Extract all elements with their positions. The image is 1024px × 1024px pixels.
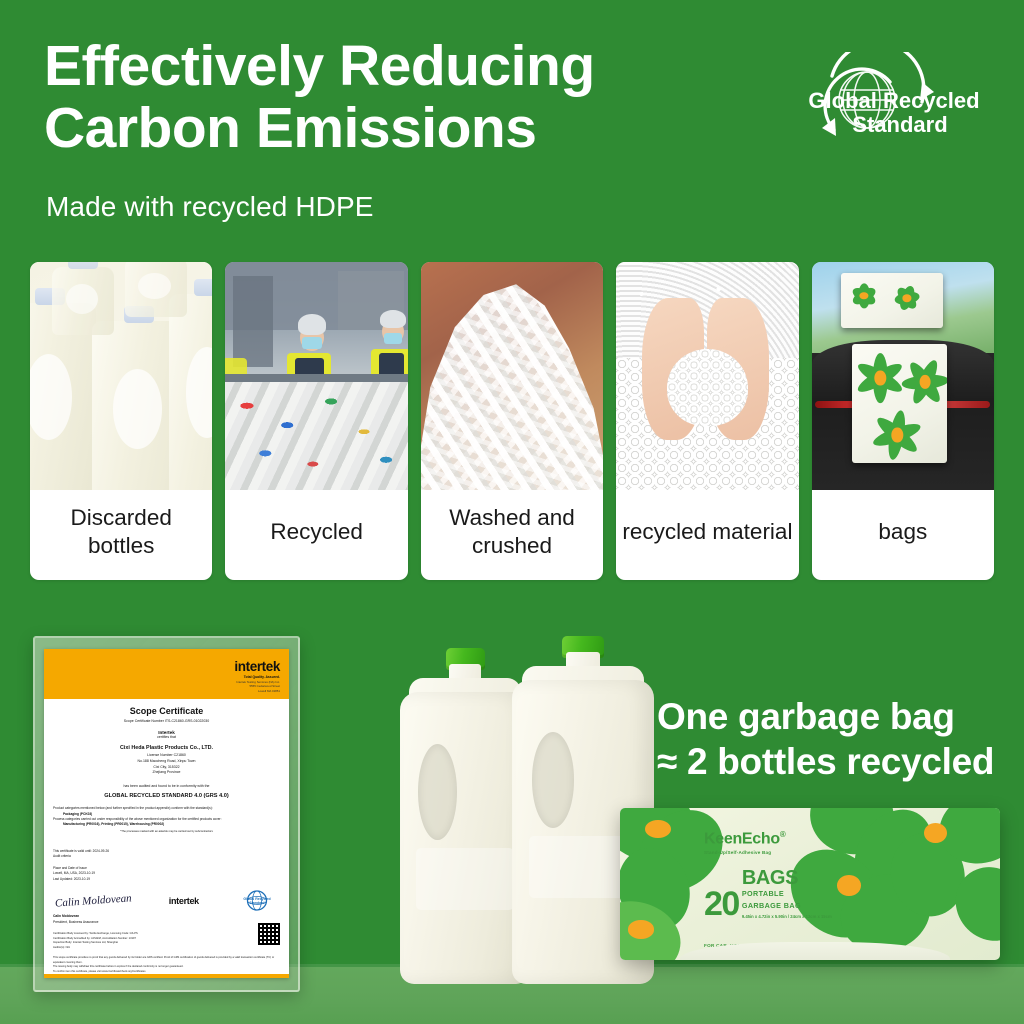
certificate-number: Scope Certificate Number ITS-C21860-GRS-… xyxy=(53,719,280,723)
hands-holding-hdpe-pellets-photo xyxy=(616,262,798,490)
process-card-caption: Washed and crushed xyxy=(421,490,603,580)
certificate-intertek-logo-footer: intertek xyxy=(169,896,199,906)
headline-line-2: Carbon Emissions xyxy=(44,98,724,160)
grs-badge-line2: Standard xyxy=(852,112,947,137)
certificate-address-3: Zhejiang Province xyxy=(53,770,280,776)
process-card-discarded-bottles[interactable]: Discarded bottles xyxy=(30,262,212,580)
hero-line-2: ≈ 2 bottles recycled xyxy=(657,739,994,784)
certificate-qr-code xyxy=(258,923,280,945)
washed-crushed-plastic-flakes-photo xyxy=(421,262,603,490)
certificate-last-updated: Last Updated: 2023-10-19 xyxy=(53,877,280,882)
certificate-process-note: *The processes marked with an asterisk m… xyxy=(53,830,280,833)
product-dimensions: 9.45in x 4.72in x 5.90in / 24cm x 12cm x… xyxy=(742,914,832,919)
process-card-recycled[interactable]: Recycled xyxy=(225,262,407,580)
certificate-grs-logo: Global Recycled Standard xyxy=(236,889,278,912)
certificate-company: Cixi Heda Plastic Products Co., LTD. xyxy=(53,745,280,751)
certificate-title: Scope Certificate xyxy=(53,706,280,716)
recycling-facility-workers-photo xyxy=(225,262,407,490)
certificate-process-value: Manufacturing (PR0016), Printing (PR0015… xyxy=(63,822,164,826)
product-brand-subtitle: Stand-Up/Self-Adhesive Bag xyxy=(704,850,832,855)
certificate-signer-title: President, Business Assurance xyxy=(53,920,280,924)
registered-mark: ® xyxy=(780,830,786,839)
page-headline: Effectively Reducing Carbon Emissions xyxy=(44,36,724,159)
headline-line-1: Effectively Reducing xyxy=(44,36,724,98)
certificate-paper: intertek Total Quality. Assured. Interte… xyxy=(44,649,289,978)
plastic-bottles-on-conveyor xyxy=(225,382,407,490)
process-card-washed-crushed[interactable]: Washed and crushed xyxy=(421,262,603,580)
process-cards-row: Discarded bottles Recycled xyxy=(30,262,994,580)
product-bags-word: BAGS xyxy=(742,869,832,887)
process-card-caption: bags xyxy=(812,490,994,580)
process-card-caption: Discarded bottles xyxy=(30,490,212,580)
product-box-keenecho[interactable]: KeenEcho® Stand-Up/Self-Adhesive Bag 20 … xyxy=(620,808,1000,960)
certificate-audited-text: has been audited and found to be in conf… xyxy=(53,784,280,788)
certificate-standard: GLOBAL RECYCLED STANDARD 4.0 (GRS 4.0) xyxy=(53,793,280,799)
certificate-signer-name: Calin Moldovean xyxy=(53,914,280,918)
hero-line-1: One garbage bag xyxy=(657,694,994,739)
intertek-tagline: Total Quality. Assured. xyxy=(234,675,280,679)
scope-certificate-frame[interactable]: intertek Total Quality. Assured. Interte… xyxy=(33,636,300,992)
globe-recycle-arrows-icon: Global Recycled Standard xyxy=(772,52,988,156)
certificate-product-value: Packaging (PCK03) xyxy=(63,812,92,816)
certificate-header-band: intertek Total Quality. Assured. Interte… xyxy=(44,649,289,699)
hero-callout: One garbage bag ≈ 2 bottles recycled xyxy=(657,694,994,784)
flower-bag-on-car-dashboard-photo xyxy=(812,262,994,490)
page-subhead: Made with recycled HDPE xyxy=(46,191,374,223)
process-card-recycled-material[interactable]: recycled material xyxy=(616,262,798,580)
product-garbage-bag-label: GARBAGE BAG xyxy=(742,901,832,910)
process-card-caption: Recycled xyxy=(225,490,407,580)
intertek-logo: intertek xyxy=(234,659,280,674)
certificate-certifies-label: certifies that xyxy=(53,735,280,739)
svg-text:Global Recycled: Global Recycled xyxy=(243,897,270,901)
hdpe-milk-jug-left xyxy=(400,648,530,984)
certificate-footer-paragraph: This scope certificate provides no proof… xyxy=(53,956,280,974)
discarded-milk-bottles-photo xyxy=(30,262,212,490)
process-card-bags[interactable]: bags xyxy=(812,262,994,580)
global-recycled-standard-badge: Global Recycled Standard xyxy=(772,52,988,156)
svg-text:Standard: Standard xyxy=(249,901,264,905)
product-bag-count: 20 xyxy=(704,891,739,919)
certificate-footer-small: Certification Body Licensed by: Textile … xyxy=(53,932,280,950)
certificate-footer-band: This electronically issued document is t… xyxy=(44,974,289,978)
certificate-audit-criteria: Audit criteria xyxy=(53,854,280,859)
grs-badge-line1: Global Recycled xyxy=(808,88,979,113)
process-card-caption: recycled material xyxy=(616,490,798,580)
intertek-address: Intertek Testing Services (NA) Inc. 5555… xyxy=(234,680,280,693)
product-brand: KeenEcho® xyxy=(704,830,832,848)
certificate-signature: Calin Moldovean xyxy=(55,892,132,909)
product-portable-label: PORTABLE xyxy=(742,889,832,898)
